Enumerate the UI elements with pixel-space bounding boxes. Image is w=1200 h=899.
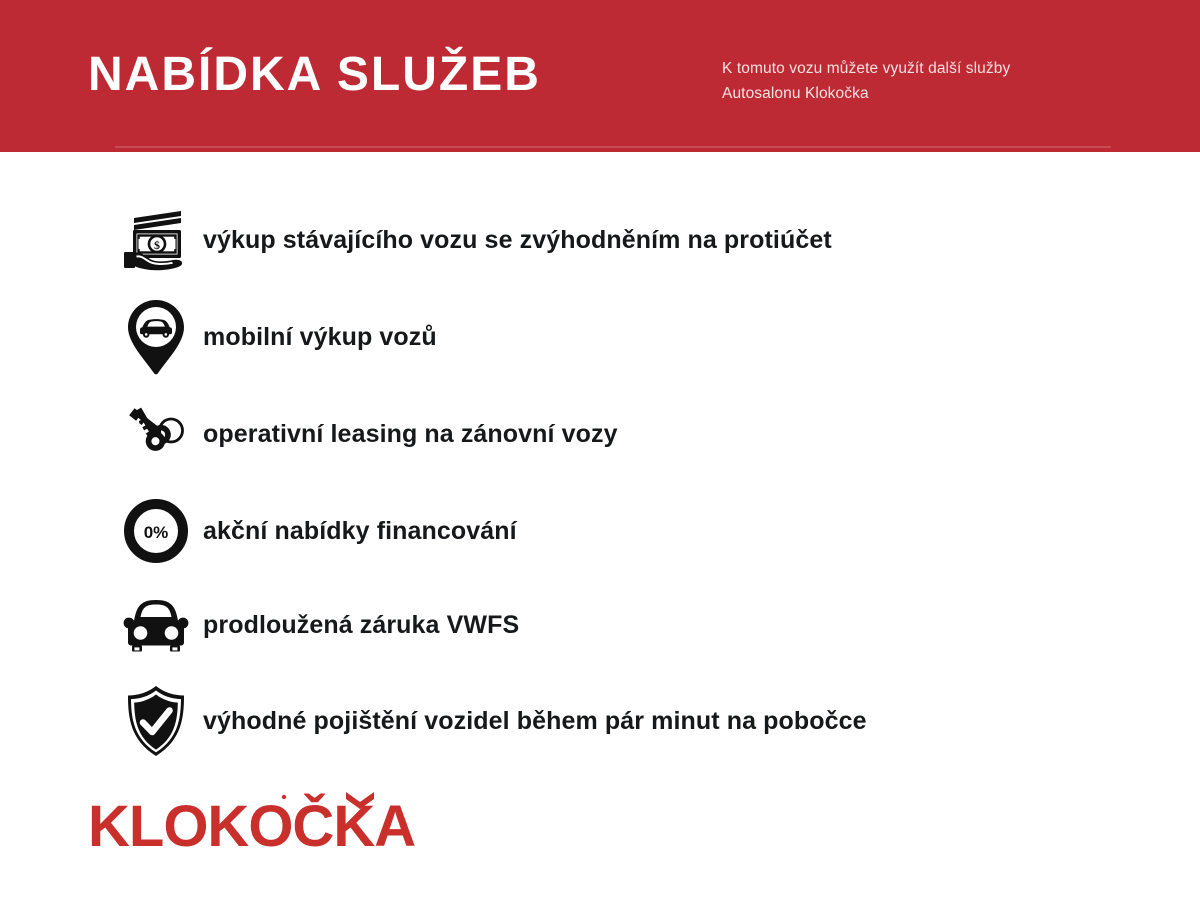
list-item: výhodné pojištění vozidel během pár minu… [0,678,1200,764]
car-front-icon [118,582,194,668]
list-item-label: operativní leasing na zánovní vozy [203,391,618,477]
page-title: NABÍDKA SLUŽEB [88,46,541,104]
shield-check-icon [118,678,194,764]
header-banner: NABÍDKA SLUŽEB K tomuto vozu můžete využ… [0,0,1200,152]
list-item-label: výkup stávajícího vozu se zvýhodněním na… [203,197,832,283]
klokocka-logo-text: KLOKOČKA [88,794,415,858]
list-item-label: výhodné pojištění vozidel během pár minu… [203,678,867,764]
list-item: prodloužená záruka VWFS [0,582,1200,668]
list-item: 0% akční nabídky financování [0,488,1200,574]
header-divider-line [115,146,1111,148]
list-item: mobilní výkup vozů [0,294,1200,380]
list-item-label: mobilní výkup vozů [203,294,437,380]
list-item-label: akční nabídky financování [203,488,517,574]
list-item: $ výkup stávajícího vozu se zvýhodněním … [0,197,1200,283]
klokocka-logo: KLOKOČKA [88,788,488,858]
zero-percent-ring-icon: 0% [118,488,194,574]
cash-in-hand-icon: $ [118,197,194,283]
car-keys-icon [118,391,194,477]
service-offer-slide: NABÍDKA SLUŽEB K tomuto vozu můžete využ… [0,0,1200,899]
map-pin-car-icon [118,294,194,380]
svg-text:$: $ [154,238,160,252]
zero-percent-label: 0% [144,523,169,542]
header-subtitle-line-2: Autosalonu Klokočka [722,81,1142,106]
list-item-label: prodloužená záruka VWFS [203,582,519,668]
header-subtitle: K tomuto vozu můžete využít další služby… [722,56,1142,106]
list-item: operativní leasing na zánovní vozy [0,391,1200,477]
header-subtitle-line-1: K tomuto vozu můžete využít další služby [722,56,1142,81]
